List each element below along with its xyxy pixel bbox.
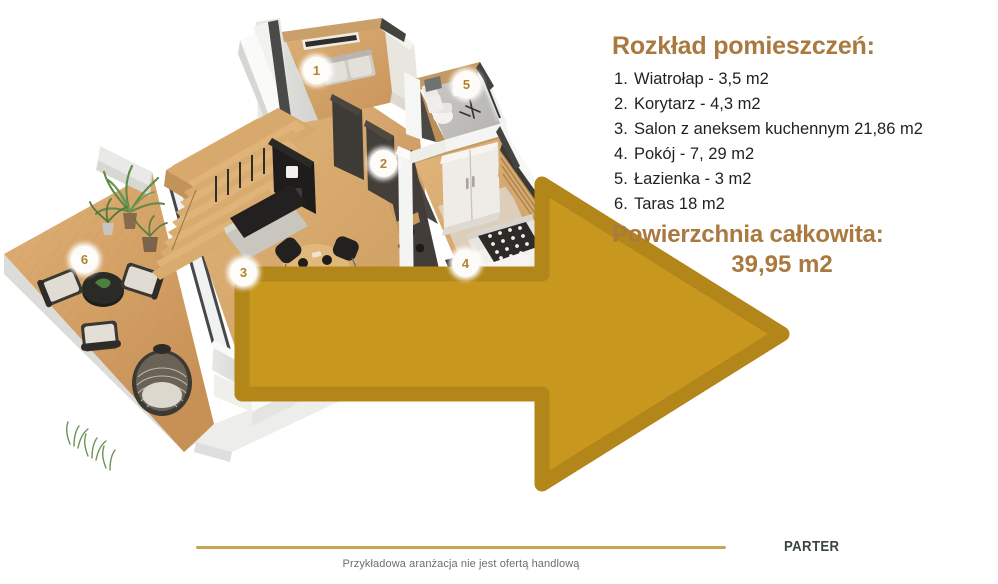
total-area-value: 39,95 m2 [612,251,992,280]
footer-caption: Przykładowa aranżacja nie jest ofertą ha… [196,558,726,570]
room-badge-5[interactable]: 5 [453,71,480,98]
room-list-item-1: Wiatrołap - 3,5 m2 [634,67,992,92]
room-badge-6[interactable]: 6 [71,246,98,273]
floorplan-render: 1 2 3 4 5 6 [0,0,600,500]
room-list-item-4: Pokój - 7, 29 m2 [634,142,992,167]
room-list: Wiatrołap - 3,5 m2 Korytarz - 4,3 m2 Sal… [612,67,992,217]
room-badge-2[interactable]: 2 [370,150,397,177]
footer-divider [196,546,726,549]
floorplan-page: 1 2 3 4 5 6 Rozkład pomieszczeń: Wiatroł… [0,0,998,580]
room-badge-4[interactable]: 4 [452,250,479,277]
floor-label: PARTER [784,538,839,555]
room-badge-1[interactable]: 1 [303,57,330,84]
total-area-label: Powierzchnia całkowita: [612,221,992,250]
legend-title: Rozkład pomieszczeń: [612,32,992,61]
room-list-item-3: Salon z aneksem kuchennym 21,86 m2 [634,117,992,142]
room-badge-3[interactable]: 3 [230,259,257,286]
room-list-item-5: Łazienka - 3 m2 [634,167,992,192]
room-list-item-2: Korytarz - 4,3 m2 [634,92,992,117]
room-list-item-6: Taras 18 m2 [634,192,992,217]
room-legend: Rozkład pomieszczeń: Wiatrołap - 3,5 m2 … [612,32,992,280]
